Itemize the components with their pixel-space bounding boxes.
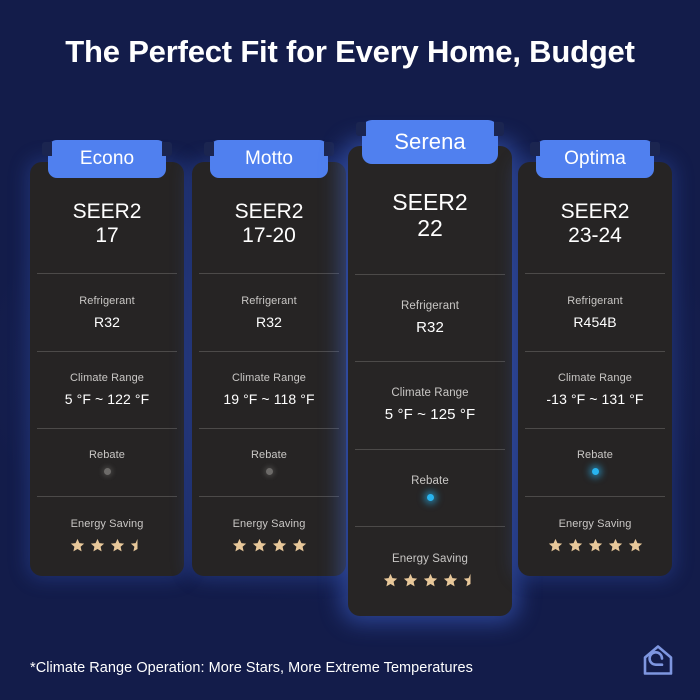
refrigerant-value: R454B — [573, 314, 616, 330]
rebate-section: Rebate — [30, 428, 184, 496]
energy-saving-label: Energy Saving — [71, 518, 144, 530]
star-icon — [292, 538, 307, 553]
energy-saving-section: Energy Saving — [348, 526, 512, 616]
energy-saving-stars — [548, 537, 643, 554]
seer-section: SEER2 22 — [348, 146, 512, 274]
refrigerant-label: Refrigerant — [567, 295, 623, 307]
energy-saving-stars — [70, 537, 145, 554]
refrigerant-value: R32 — [256, 314, 282, 330]
star-icon — [90, 538, 105, 553]
refrigerant-label: Refrigerant — [401, 300, 459, 312]
product-card-motto[interactable]: Motto SEER2 17-20 Refrigerant R32 Climat… — [192, 162, 346, 576]
footnote: *Climate Range Operation: More Stars, Mo… — [30, 660, 473, 676]
energy-saving-stars — [383, 572, 478, 589]
product-card-serena[interactable]: Serena SEER2 22 Refrigerant R32 Climate … — [348, 146, 512, 616]
star-icon — [548, 538, 563, 553]
seer-label: SEER2 — [73, 200, 142, 224]
rebate-label: Rebate — [89, 449, 125, 461]
refrigerant-label: Refrigerant — [241, 295, 297, 307]
seer-section: SEER2 17-20 — [192, 162, 346, 273]
seer-label: SEER2 — [235, 200, 304, 224]
climate-range-label: Climate Range — [391, 387, 468, 399]
climate-range-value: 19 °F ~ 118 °F — [223, 391, 314, 407]
seer-value: 23-24 — [568, 224, 622, 248]
energy-saving-label: Energy Saving — [392, 553, 468, 565]
climate-range-section: Climate Range 5 °F ~ 122 °F — [30, 351, 184, 428]
rebate-status-dot-icon — [266, 468, 273, 475]
climate-range-section: Climate Range 5 °F ~ 125 °F — [348, 361, 512, 448]
star-icon — [423, 573, 438, 588]
refrigerant-label: Refrigerant — [79, 295, 135, 307]
star-icon — [272, 538, 287, 553]
rebate-section: Rebate — [518, 428, 672, 496]
star-icon — [232, 538, 247, 553]
rebate-status-dot-icon — [592, 468, 599, 475]
product-card-deck: Econo SEER2 17 Refrigerant R32 Climate R… — [0, 0, 700, 700]
climate-range-label: Climate Range — [558, 372, 632, 384]
energy-saving-section: Energy Saving — [192, 496, 346, 576]
climate-range-label: Climate Range — [70, 372, 144, 384]
product-card-econo[interactable]: Econo SEER2 17 Refrigerant R32 Climate R… — [30, 162, 184, 576]
rebate-section: Rebate — [192, 428, 346, 496]
energy-saving-stars — [232, 537, 307, 554]
star-icon — [383, 573, 398, 588]
energy-saving-label: Energy Saving — [233, 518, 306, 530]
seer-label: SEER2 — [561, 200, 630, 224]
star-icon — [443, 573, 458, 588]
climate-range-label: Climate Range — [232, 372, 306, 384]
star-icon — [70, 538, 85, 553]
seer-section: SEER2 17 — [30, 162, 184, 273]
star-icon — [628, 538, 643, 553]
climate-range-value: 5 °F ~ 125 °F — [385, 406, 475, 423]
refrigerant-section: Refrigerant R32 — [192, 273, 346, 350]
climate-range-section: Climate Range -13 °F ~ 131 °F — [518, 351, 672, 428]
energy-saving-section: Energy Saving — [518, 496, 672, 576]
star-icon — [252, 538, 267, 553]
climate-range-section: Climate Range 19 °F ~ 118 °F — [192, 351, 346, 428]
refrigerant-section: Refrigerant R454B — [518, 273, 672, 350]
product-card-optima[interactable]: Optima SEER2 23-24 Refrigerant R454B Cli… — [518, 162, 672, 576]
refrigerant-value: R32 — [94, 314, 120, 330]
rebate-label: Rebate — [411, 475, 449, 487]
star-icon — [403, 573, 418, 588]
seer-value: 17-20 — [242, 224, 296, 248]
rebate-section: Rebate — [348, 449, 512, 526]
half-star-icon — [130, 538, 145, 553]
climate-range-value: -13 °F ~ 131 °F — [546, 391, 643, 407]
rebate-status-dot-icon — [427, 494, 434, 501]
seer-section: SEER2 23-24 — [518, 162, 672, 273]
energy-saving-section: Energy Saving — [30, 496, 184, 576]
climate-range-value: 5 °F ~ 122 °F — [65, 391, 149, 407]
refrigerant-section: Refrigerant R32 — [30, 273, 184, 350]
star-icon — [608, 538, 623, 553]
seer-value: 22 — [417, 216, 443, 242]
seer-value: 17 — [95, 224, 118, 248]
home-spiral-logo-icon — [640, 642, 676, 678]
rebate-label: Rebate — [251, 449, 287, 461]
star-icon — [588, 538, 603, 553]
star-icon — [110, 538, 125, 553]
half-star-icon — [463, 573, 478, 588]
rebate-status-dot-icon — [104, 468, 111, 475]
refrigerant-value: R32 — [416, 319, 444, 336]
energy-saving-label: Energy Saving — [559, 518, 632, 530]
star-icon — [568, 538, 583, 553]
refrigerant-section: Refrigerant R32 — [348, 274, 512, 361]
seer-label: SEER2 — [392, 190, 467, 216]
rebate-label: Rebate — [577, 449, 613, 461]
